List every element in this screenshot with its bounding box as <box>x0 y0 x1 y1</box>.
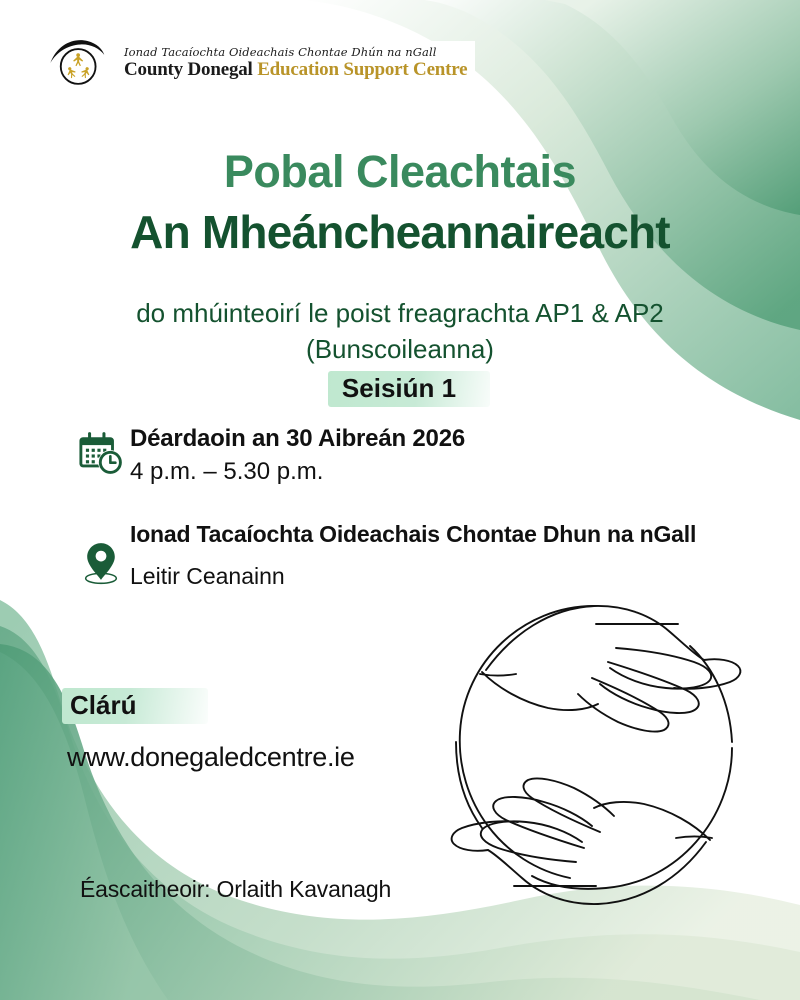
calendar-clock-icon <box>78 430 124 476</box>
poster-canvas: Ionad Tacaíochta Oideachais Chontae Dhún… <box>0 0 800 1000</box>
logo-county-donegal: County Donegal <box>124 59 253 80</box>
event-date: Déardaoin an 30 Aibreán 2026 <box>130 424 465 454</box>
session-badge-wrap: Seisiún 1 <box>0 371 800 407</box>
date-time-row: Déardaoin an 30 Aibreán 2026 4 p.m. – 5.… <box>72 424 692 487</box>
venue-text: Ionad Tacaíochta Oideachais Chontae Dhun… <box>130 518 696 592</box>
date-icon-wrap <box>72 424 130 476</box>
registration-block: Clárú www.donegaledcentre.ie <box>62 688 355 773</box>
poster-title-line-2: An Mheáncheannaireacht <box>0 208 800 256</box>
facilitator-text: Éascaitheoir: Orlaith Kavanagh <box>80 876 391 903</box>
poster-title-line-1: Pobal Cleachtais <box>0 148 800 195</box>
event-time: 4 p.m. – 5.30 p.m. <box>130 456 465 487</box>
logo-block: Ionad Tacaíochta Oideachais Chontae Dhún… <box>48 34 475 92</box>
registration-label: Clárú <box>62 688 208 724</box>
logo-english-name: County Donegal Education Support Centre <box>124 60 467 81</box>
session-badge: Seisiún 1 <box>328 371 490 407</box>
logo-education-support-centre: Education Support Centre <box>257 59 467 80</box>
poster-subtitle: do mhúinteoirí le poist freagrachta AP1 … <box>0 296 800 368</box>
two-hands-circle-line-art-icon <box>446 592 746 922</box>
venue-icon-wrap <box>72 518 130 586</box>
venue-town: Leitir Ceanainn <box>130 561 696 592</box>
logo-text-box: Ionad Tacaíochta Oideachais Chontae Dhún… <box>116 41 475 85</box>
venue-name: Ionad Tacaíochta Oideachais Chontae Dhun… <box>130 518 696 551</box>
logo-irish-name: Ionad Tacaíochta Oideachais Chontae Dhún… <box>124 46 467 59</box>
subtitle-line-1: do mhúinteoirí le poist freagrachta AP1 … <box>0 296 800 332</box>
date-time-text: Déardaoin an 30 Aibreán 2026 4 p.m. – 5.… <box>130 424 465 487</box>
donegal-education-support-centre-logo-icon <box>48 34 106 92</box>
subtitle-line-2: (Bunscoileanna) <box>0 332 800 368</box>
registration-url[interactable]: www.donegaledcentre.ie <box>62 742 355 773</box>
venue-row: Ionad Tacaíochta Oideachais Chontae Dhun… <box>72 518 772 592</box>
location-pin-icon <box>81 540 121 586</box>
